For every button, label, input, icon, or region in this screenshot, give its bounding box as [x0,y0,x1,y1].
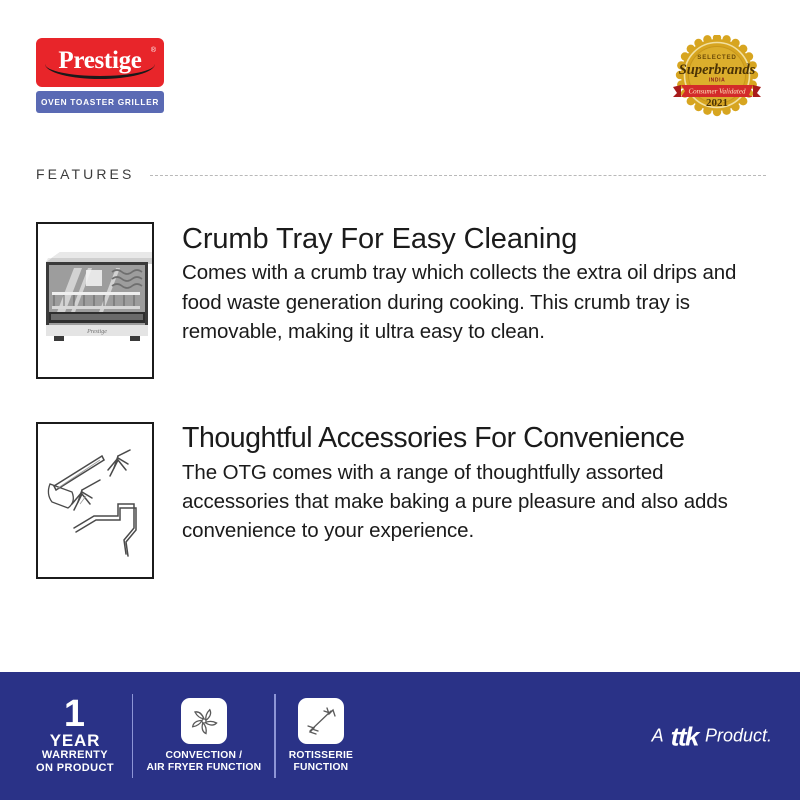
page-header: Prestige ® OVEN TOASTER GRILLER [0,0,800,150]
seal-top-text: SELECTED [697,54,736,61]
convection-label-line-1: CONVECTION / [146,750,261,762]
feature-title: Thoughtful Accessories For Convenience [182,424,742,454]
seal-country-text: INDIA [709,78,726,84]
warranty-line-2: ON PRODUCT [36,762,114,775]
page-footer: 1 YEAR WARRENTY ON PRODUCT [0,672,800,800]
feature-body: Comes with a crumb tray which collects t… [182,258,742,345]
convection-label-line-2: AIR FRYER FUNCTION [146,762,261,774]
warranty-number: 1 [36,697,114,732]
ttk-suffix: Product. [705,726,772,747]
function-badge-convection: CONVECTION / AIR FRYER FUNCTION [133,698,274,774]
seal-year-text: 2021 [706,97,728,109]
seal-main-text: Superbrands [679,62,756,78]
rotisserie-accessories-photo [36,422,154,579]
seal-ribbon-text: Consumer Validated [689,88,746,96]
otg-oven-photo: Prestige [36,222,154,379]
superbrands-seal: SELECTED Superbrands INDIA Consumer Vali… [669,35,765,121]
feature-body: The OTG comes with a range of thoughtful… [182,458,742,545]
feature-title: Crumb Tray For Easy Cleaning [182,224,742,254]
prestige-logo-mark: Prestige ® [36,38,164,87]
feature-text-crumb-tray: Crumb Tray For Easy Cleaning Comes with … [182,222,742,346]
product-category-banner: OVEN TOASTER GRILLER [36,91,164,113]
feature-block-crumb-tray: Prestige Crumb Tray For Easy Cleaning Co… [36,222,742,379]
convection-fan-icon [181,698,227,744]
dotted-divider [150,175,766,177]
warranty-line-1: WARRENTY [36,749,114,762]
swoosh-icon [45,64,155,79]
product-category-label: OVEN TOASTER GRILLER [41,97,159,107]
ttk-prefix: A [652,726,664,747]
feature-block-accessories: Thoughtful Accessories For Convenience T… [36,422,742,579]
svg-text:Prestige: Prestige [86,329,107,335]
function-badge-rotisserie: ROTISSERIE FUNCTION [276,698,366,774]
registered-trademark-icon: ® [151,47,156,54]
warranty-year-label: YEAR [36,732,114,750]
feature-text-accessories: Thoughtful Accessories For Convenience T… [182,422,742,545]
warranty-badge: 1 YEAR WARRENTY ON PRODUCT [36,697,132,776]
ttk-product-attribution: A ttk Product. [652,721,772,752]
features-section-header: FEATURES [36,166,766,182]
features-label: FEATURES [36,166,134,182]
rotisserie-label-line-2: FUNCTION [289,762,353,774]
ttk-logo: ttk [671,722,698,753]
prestige-logo: Prestige ® OVEN TOASTER GRILLER [36,38,164,113]
rotisserie-skewer-icon [298,698,344,744]
rotisserie-label-line-1: ROTISSERIE [289,750,353,762]
